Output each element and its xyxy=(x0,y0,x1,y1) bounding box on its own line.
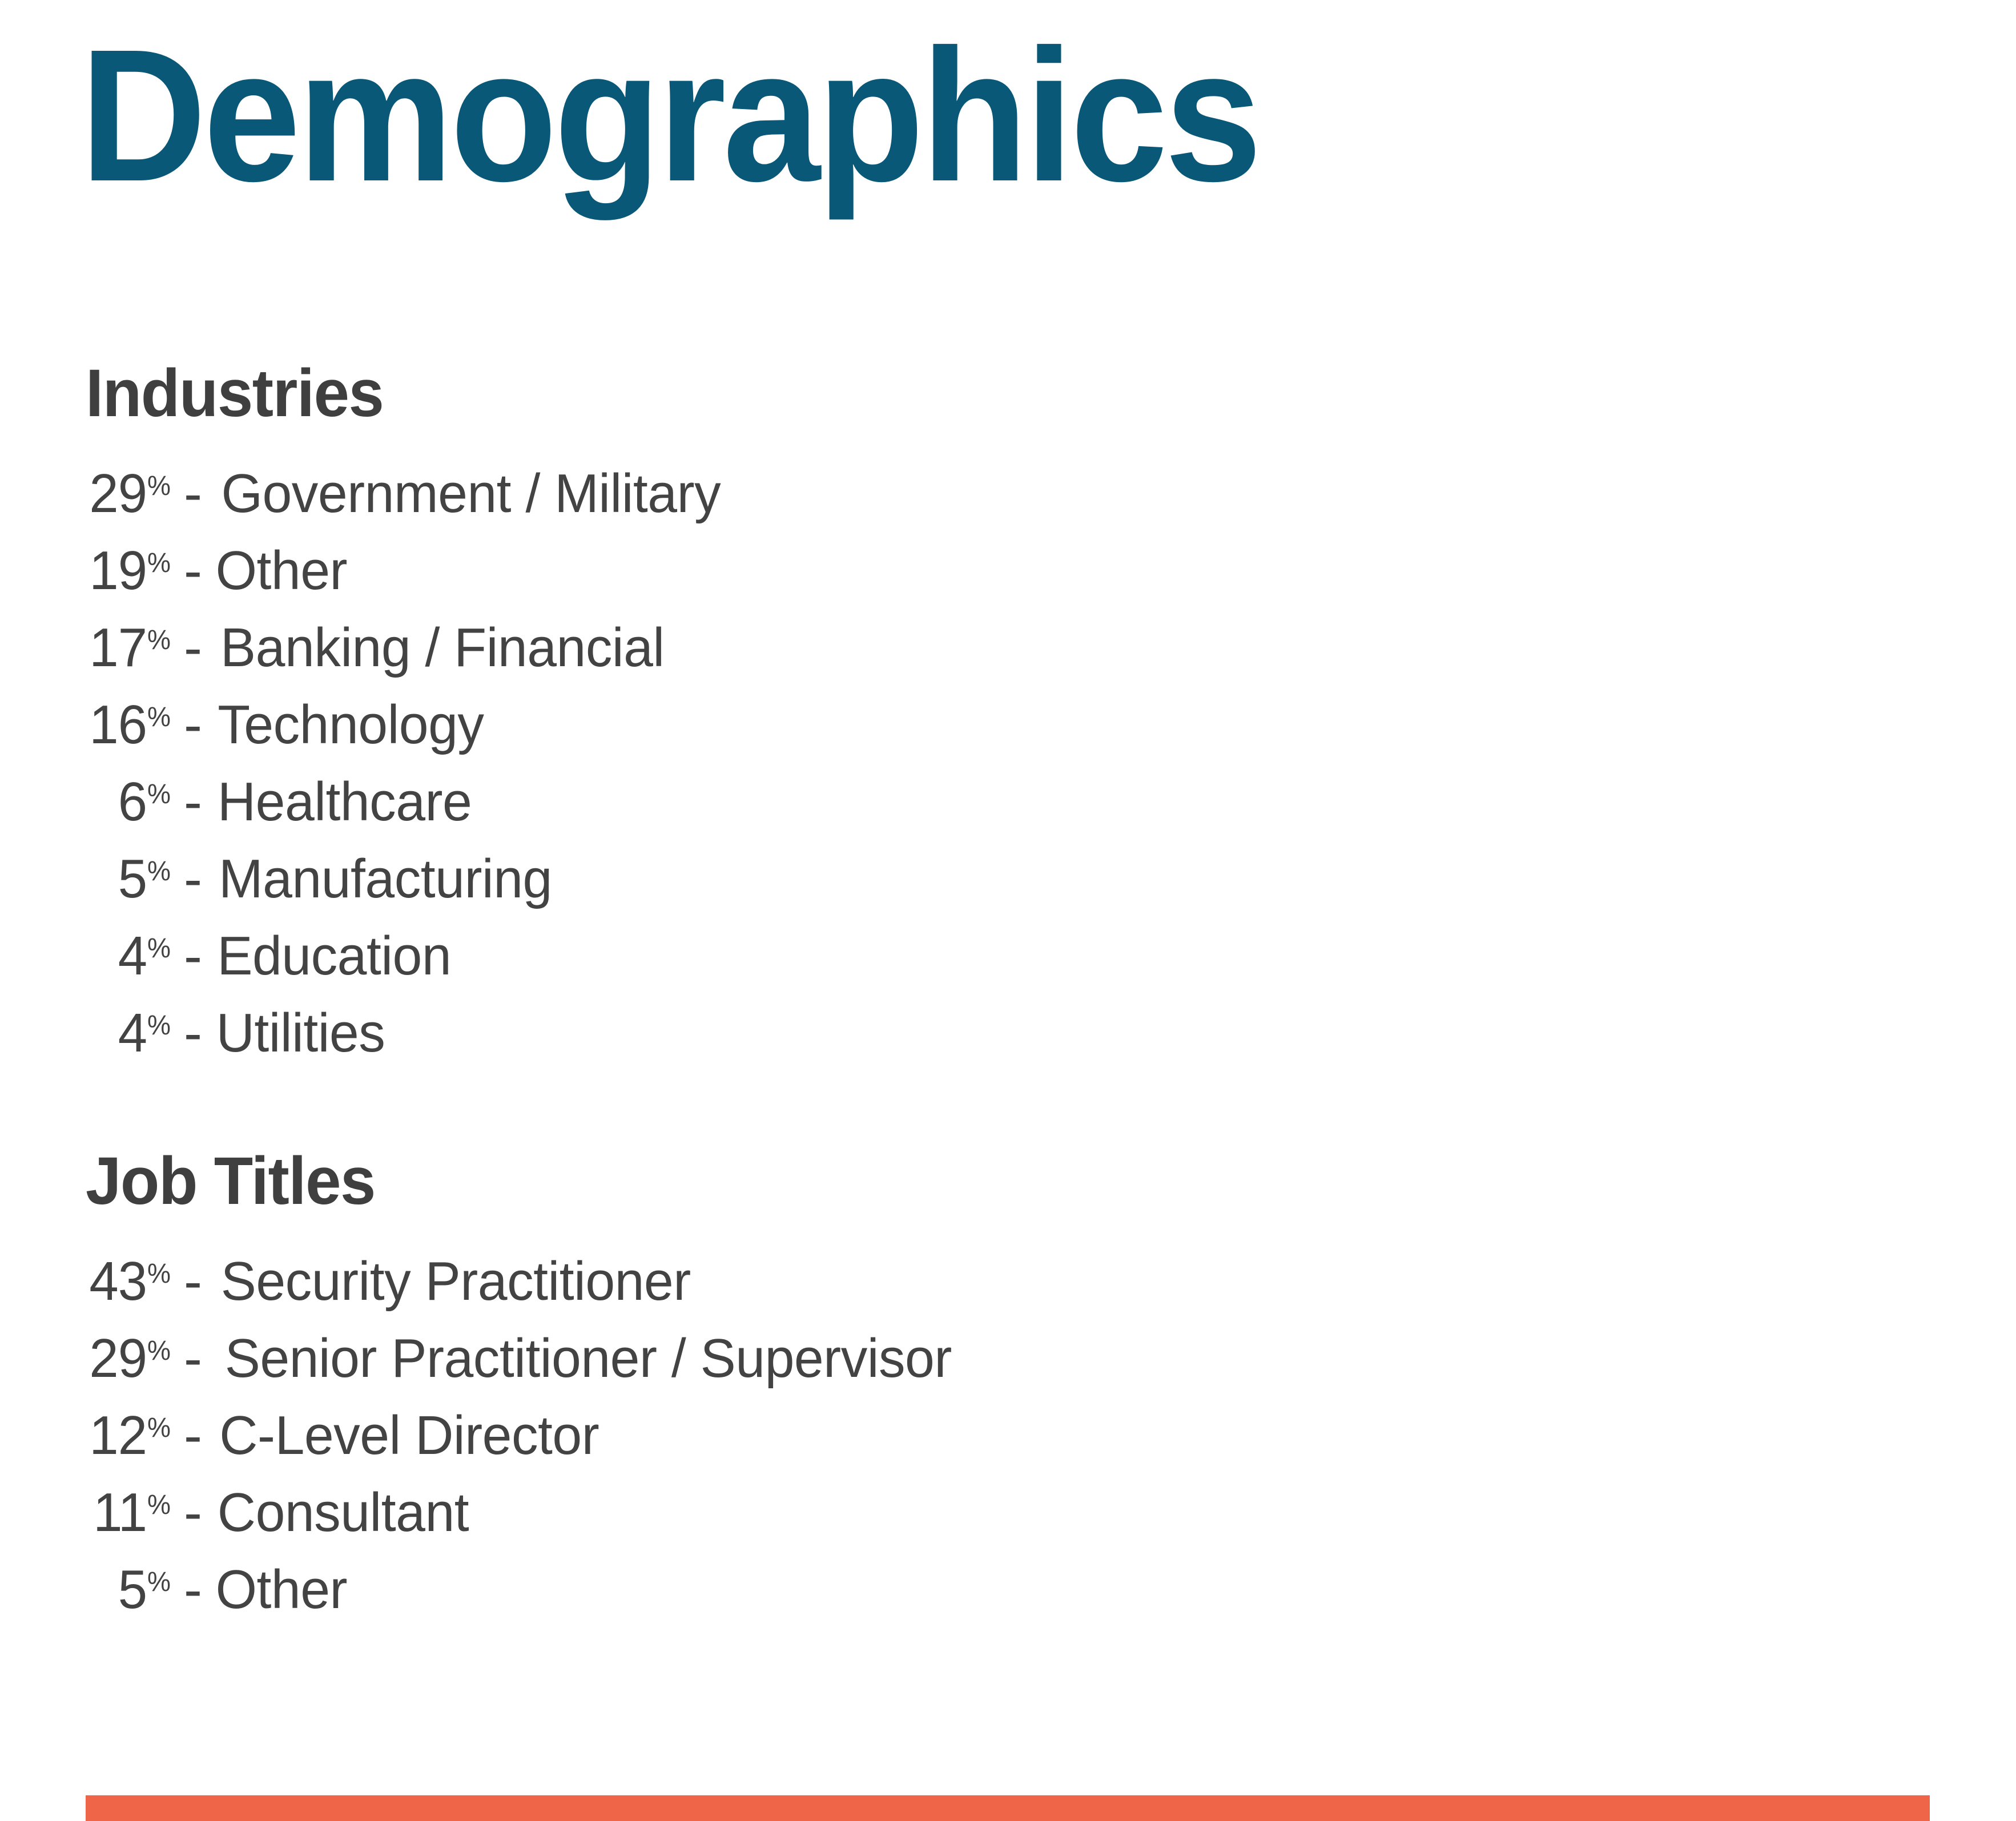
stat-percent: 19% xyxy=(87,539,171,602)
page-title: Demographics xyxy=(80,8,1259,223)
section-heading-job-titles: Job Titles xyxy=(86,1147,919,1215)
list-item: 4% - Utilities xyxy=(86,1002,729,1079)
percent-sign-icon: % xyxy=(147,933,171,964)
stat-dash: - xyxy=(172,771,214,833)
stat-dash: - xyxy=(172,1481,214,1544)
percent-sign-icon: % xyxy=(147,1567,171,1597)
percent-sign-icon: % xyxy=(147,625,171,655)
stat-percent: 17% xyxy=(87,617,171,679)
percent-sign-icon: % xyxy=(147,1413,171,1443)
list-item: 6% - Healthcare xyxy=(86,771,729,848)
percent-sign-icon: % xyxy=(147,702,171,732)
stat-label: Other xyxy=(216,539,347,602)
percent-sign-icon: % xyxy=(147,1259,171,1289)
stat-percent: 29% xyxy=(87,1327,171,1390)
list-item: 19% - Other xyxy=(86,539,729,617)
percent-sign-icon: % xyxy=(147,779,171,809)
list-item: 29% - Government / Military xyxy=(86,462,729,539)
stat-label: Healthcare xyxy=(218,771,472,833)
stat-percent: 5% xyxy=(87,1558,171,1621)
stat-dash: - xyxy=(172,694,214,756)
section-heading-industries: Industries xyxy=(86,360,696,427)
stat-dash: - xyxy=(172,848,214,910)
stat-dash: - xyxy=(172,1404,214,1467)
industries-stat-list: 29% - Government / Military 19% - Other … xyxy=(86,462,729,1079)
list-item: 5% - Manufacturing xyxy=(86,848,729,925)
list-item: 5% - Other xyxy=(86,1558,963,1635)
stat-label: Consultant xyxy=(218,1481,469,1544)
stat-label: Manufacturing xyxy=(219,848,552,910)
stat-label: Senior Practitioner / Supervisor xyxy=(225,1327,952,1390)
percent-sign-icon: % xyxy=(147,548,171,578)
stat-percent: 43% xyxy=(87,1250,171,1313)
stat-dash: - xyxy=(172,539,214,602)
stat-dash: - xyxy=(172,617,214,679)
stat-dash: - xyxy=(172,1558,214,1621)
stat-dash: - xyxy=(172,462,214,525)
percent-sign-icon: % xyxy=(147,1490,171,1520)
section-industries: Industries 29% - Government / Military 1… xyxy=(86,360,729,1079)
stat-percent: 29% xyxy=(87,462,171,525)
stat-label: Education xyxy=(217,925,451,988)
list-item: 4% - Education xyxy=(86,925,729,1002)
stat-percent: 12% xyxy=(87,1404,171,1467)
stat-dash: - xyxy=(172,925,214,988)
stat-dash: - xyxy=(172,1250,214,1313)
stat-label: Utilities xyxy=(216,1002,385,1065)
section-job-titles: Job Titles 43% - Security Practitioner 2… xyxy=(86,1147,963,1635)
list-item: 43% - Security Practitioner xyxy=(86,1250,963,1327)
stat-percent: 5% xyxy=(87,848,171,910)
demographics-slide: Demographics Industries 29% - Government… xyxy=(0,0,2016,1819)
stat-percent: 16% xyxy=(87,694,171,756)
stat-label: C-Level Director xyxy=(219,1404,599,1467)
stat-percent: 6% xyxy=(87,771,171,833)
stat-label: Security Practitioner xyxy=(221,1250,691,1313)
percent-sign-icon: % xyxy=(147,1010,171,1041)
stat-label: Technology xyxy=(218,694,484,756)
stat-label: Government / Military xyxy=(222,462,721,525)
stat-label: Other xyxy=(216,1558,347,1621)
stat-label: Banking / Financial xyxy=(220,617,665,679)
bottom-accent-bar xyxy=(86,1795,1930,1821)
list-item: 29% - Senior Practitioner / Supervisor xyxy=(86,1327,963,1404)
list-item: 17% - Banking / Financial xyxy=(86,617,729,694)
list-item: 11% - Consultant xyxy=(86,1481,963,1558)
percent-sign-icon: % xyxy=(147,1336,171,1366)
list-item: 12% - C-Level Director xyxy=(86,1404,963,1481)
stat-percent: 4% xyxy=(87,1002,171,1065)
stat-dash: - xyxy=(172,1327,214,1390)
stat-dash: - xyxy=(172,1002,214,1065)
job-titles-stat-list: 43% - Security Practitioner 29% - Senior… xyxy=(86,1250,963,1635)
list-item: 16% - Technology xyxy=(86,694,729,771)
percent-sign-icon: % xyxy=(147,471,171,501)
stat-percent: 4% xyxy=(87,925,171,988)
percent-sign-icon: % xyxy=(147,856,171,887)
stat-percent: 11% xyxy=(87,1481,171,1544)
